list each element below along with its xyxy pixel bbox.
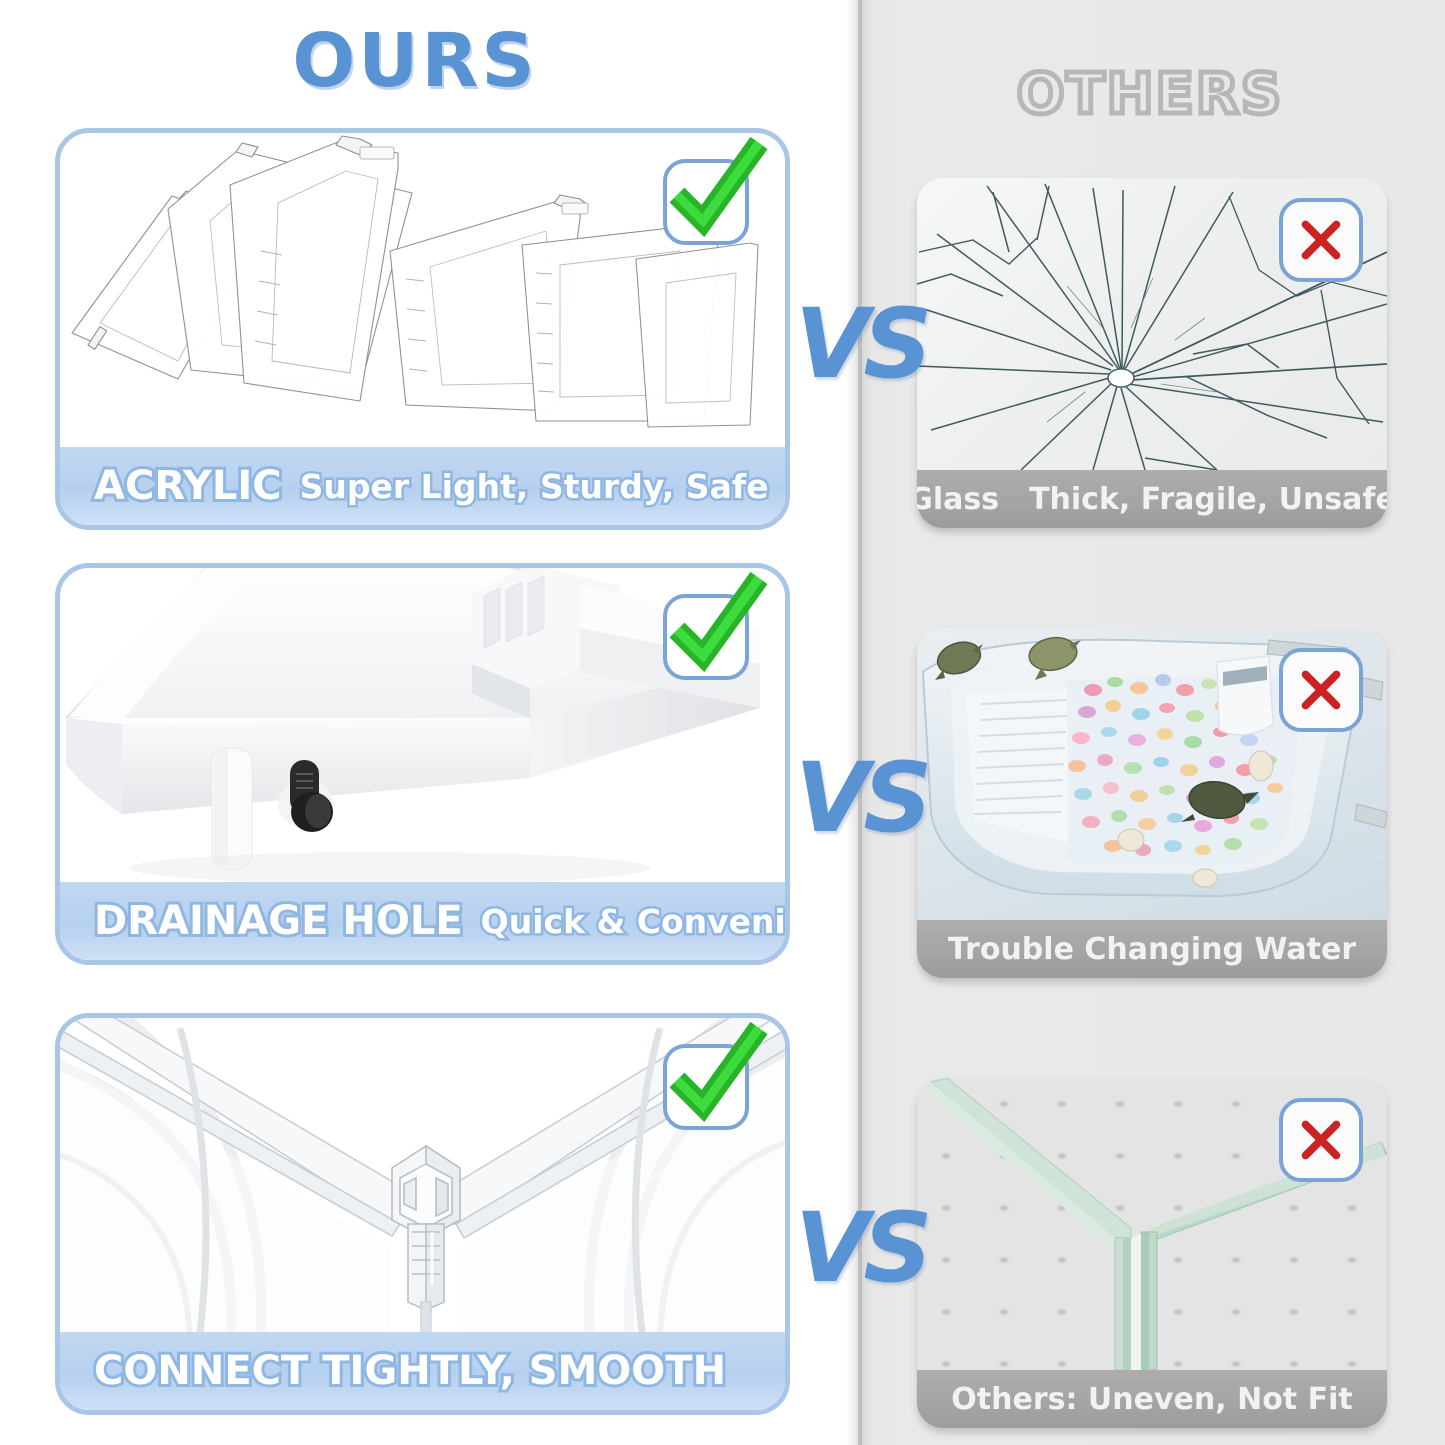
check-icon [655,1018,775,1134]
comparison-infographic: OURS OTHERS [0,0,1445,1445]
caption-strong: DRAINAGE HOLE [94,898,463,944]
vs-badge-3: VS [795,1192,926,1304]
others-caption-uneven: Others: Uneven, Not Fit [917,1370,1387,1428]
check-icon [655,133,775,249]
check-badge [663,159,749,245]
vs-badge-2: VS [795,742,926,854]
turtle-tank-water-photo [917,628,1387,920]
others-card-water: Trouble Changing Water [917,628,1387,978]
others-card-uneven: Others: Uneven, Not Fit [917,1078,1387,1428]
caption-sub: Quick & Convenient [481,902,790,941]
ours-heading: OURS [0,18,830,104]
others-card-glass: Glass Thick, Fragile, Unsafe [917,178,1387,528]
cracked-glass-photo [917,178,1387,470]
check-icon [655,568,775,684]
others-caption-glass: Glass Thick, Fragile, Unsafe [917,470,1387,528]
ours-caption-connect: CONNECT TIGHTLY, SMOOTH [60,1332,785,1410]
x-icon [1292,661,1350,719]
others-heading: OTHERS [870,62,1430,127]
x-badge [1279,1098,1363,1182]
ours-caption-drainage: DRAINAGE HOLE Quick & Convenient [60,882,785,960]
check-badge [663,594,749,680]
caption-sub: Super Light, Sturdy, Safe [300,467,769,506]
ours-card-drainage: DRAINAGE HOLE Quick & Convenient [55,563,790,965]
vs-badge-1: VS [795,288,926,400]
caption-strong: ACRYLIC [94,463,282,509]
acrylic-panels-photo [60,133,785,447]
ours-card-acrylic: ACRYLIC Super Light, Sturdy, Safe [55,128,790,530]
x-badge [1279,198,1363,282]
others-caption-water: Trouble Changing Water [917,920,1387,978]
x-badge [1279,648,1363,732]
ours-caption-acrylic: ACRYLIC Super Light, Sturdy, Safe [60,447,785,525]
x-icon [1292,1111,1350,1169]
corner-connector-photo [60,1018,785,1332]
check-badge [663,1044,749,1130]
ours-card-connect: CONNECT TIGHTLY, SMOOTH [55,1013,790,1415]
caption-strong: CONNECT TIGHTLY, SMOOTH [94,1348,726,1394]
drainage-hole-photo [60,568,785,882]
x-icon [1292,211,1350,269]
uneven-glass-corner-photo [917,1078,1387,1370]
